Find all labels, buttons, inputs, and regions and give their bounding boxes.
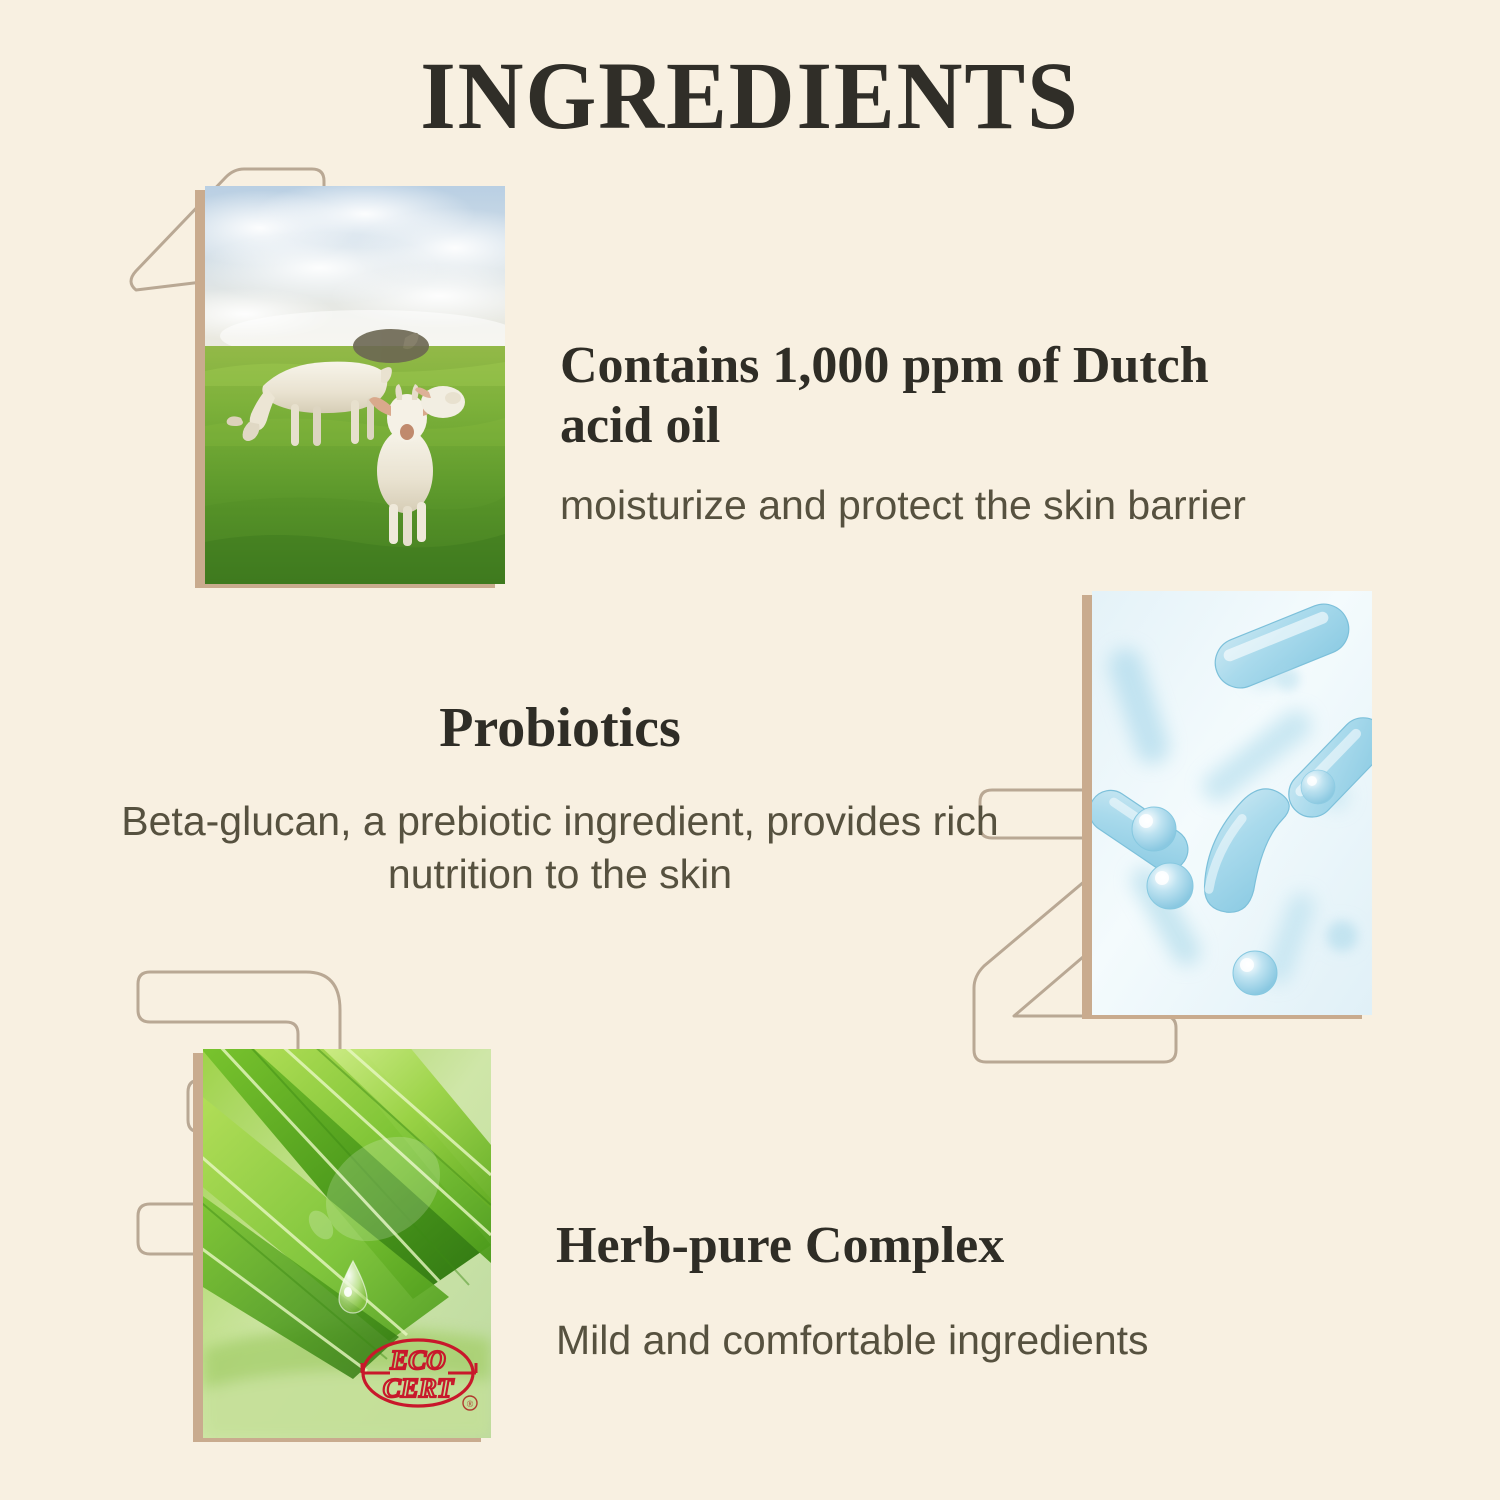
section-2-heading: Probiotics xyxy=(120,696,1000,761)
section-1-heading: Contains 1,000 ppm of Dutch acid oil xyxy=(560,336,1280,457)
ecocert-line1: ECO xyxy=(389,1345,446,1375)
section-3-heading: Herb-pure Complex xyxy=(556,1216,1196,1276)
section-2-photo-card xyxy=(1092,591,1372,1015)
section-3-text-block: Herb-pure Complex Mild and comfortable i… xyxy=(556,1216,1196,1368)
section-2-text-block: Probiotics Beta-glucan, a prebiotic ingr… xyxy=(120,696,1000,902)
section-1-photo-card xyxy=(205,186,505,584)
section-3-subtext: Mild and comfortable ingredients xyxy=(556,1314,1196,1367)
ingredients-infographic: INGREDIENTS xyxy=(0,0,1500,1500)
section-1-text-block: Contains 1,000 ppm of Dutch acid oil moi… xyxy=(560,336,1280,532)
section-2-subtext: Beta-glucan, a prebiotic ingredient, pro… xyxy=(120,795,1000,902)
goats-grazing-field-photo xyxy=(205,186,505,584)
ecocert-registered-mark: ® xyxy=(467,1399,474,1409)
probiotic-bacteria-photo xyxy=(1092,591,1372,1015)
ecocert-logo: ECO CERT ® xyxy=(360,1333,484,1421)
section-1-subtext: moisturize and protect the skin barrier xyxy=(560,479,1280,532)
page-title: INGREDIENTS xyxy=(38,48,1463,144)
ecocert-line2: CERT xyxy=(383,1373,455,1403)
